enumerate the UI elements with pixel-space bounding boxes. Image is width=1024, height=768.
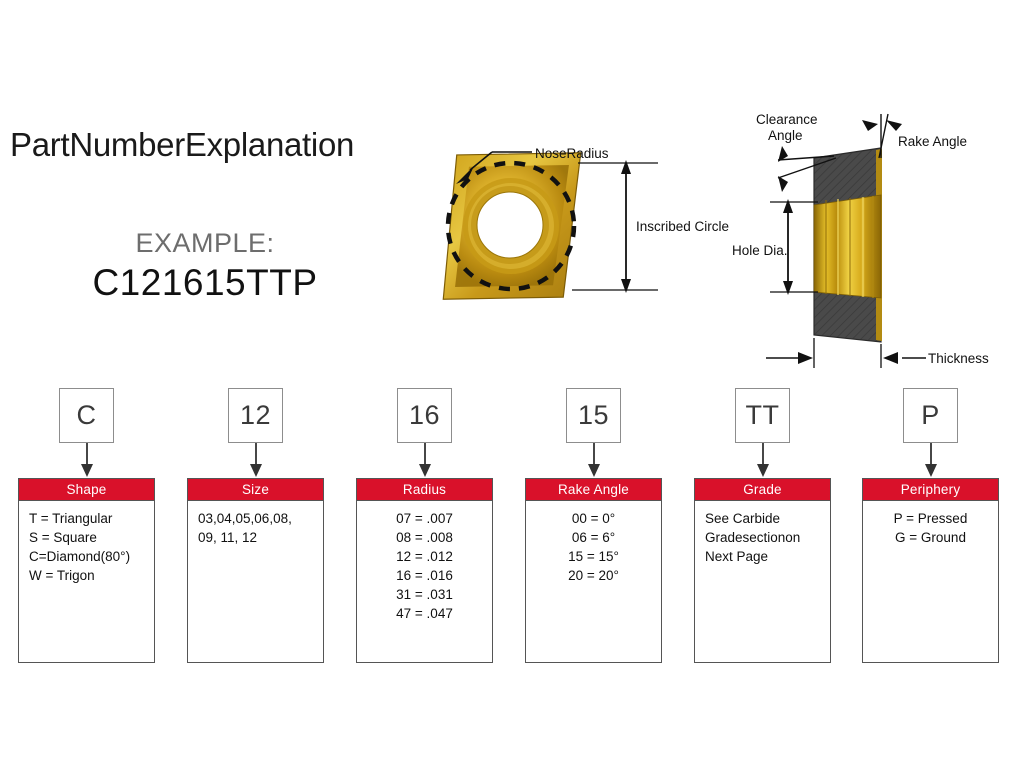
panel-body-size: 03,04,05,06,08, 09, 11, 12 (188, 501, 323, 547)
hole-dia-label: Hole Dia. (732, 243, 788, 258)
panel-header-grade: Grade (695, 479, 830, 501)
panel-line: 16 = .016 (363, 566, 486, 585)
panel-line: 20 = 20° (532, 566, 655, 585)
carbide-insert-cross-section: Clearance Angle Rake Angle Hole Dia. (726, 100, 1024, 380)
code-box-grade: TT (735, 388, 790, 443)
panel-line: S = Square (25, 528, 148, 547)
arrow-down-icon (923, 443, 939, 479)
panel-body-grade: See Carbide Gradesectionon Next Page (695, 501, 830, 566)
thickness-dimension: Thickness (766, 338, 989, 368)
panel-size: Size 03,04,05,06,08, 09, 11, 12 (187, 478, 324, 663)
panel-line: Gradesectionon (701, 528, 824, 547)
panel-header-rake-angle: Rake Angle (526, 479, 661, 501)
panel-line: 00 = 0° (532, 509, 655, 528)
panel-header-periphery: Periphery (863, 479, 998, 501)
arrow-down-icon (586, 443, 602, 479)
panel-radius: Radius 07 = .007 08 = .008 12 = .012 16 … (356, 478, 493, 663)
panel-line: 09, 11, 12 (194, 528, 317, 547)
panel-line: 08 = .008 (363, 528, 486, 547)
panel-periphery: Periphery P = Pressed G = Ground (862, 478, 999, 663)
rake-angle-label: Rake Angle (898, 134, 967, 149)
clearance-angle-label-line1: Clearance (756, 112, 818, 127)
code-box-size: 12 (228, 388, 283, 443)
arrow-down-icon (417, 443, 433, 479)
panel-line: 47 = .047 (363, 604, 486, 623)
page-title: PartNumberExplanation (10, 126, 354, 164)
panel-line: 12 = .012 (363, 547, 486, 566)
panel-line: 03,04,05,06,08, (194, 509, 317, 528)
example-part-number: C121615TTP (55, 262, 355, 304)
insert-body-shape (441, 153, 583, 299)
hole-bore (814, 195, 881, 298)
panel-grade: Grade See Carbide Gradesectionon Next Pa… (694, 478, 831, 663)
panel-line: P = Pressed (869, 509, 992, 528)
inscribed-circle-label: Inscribed Circle (636, 219, 729, 234)
arrow-down-icon (79, 443, 95, 479)
arrow-down-icon (248, 443, 264, 479)
panel-header-shape: Shape (19, 479, 154, 501)
clearance-angle-label-line2: Angle (768, 128, 803, 143)
panel-shape: Shape T = Triangular S = Square C=Diamon… (18, 478, 155, 663)
code-box-shape: C (59, 388, 114, 443)
panel-body-radius: 07 = .007 08 = .008 12 = .012 16 = .016 … (357, 501, 492, 623)
panel-body-rake-angle: 00 = 0° 06 = 6° 15 = 15° 20 = 20° (526, 501, 661, 585)
hole-dia-dimension: Hole Dia. (732, 199, 818, 295)
panel-line: 31 = .031 (363, 585, 486, 604)
carbide-insert-top-view: NoseRadius Inscribed Circle (440, 140, 730, 340)
panel-line: 15 = 15° (532, 547, 655, 566)
panel-line: 07 = .007 (363, 509, 486, 528)
code-box-periphery: P (903, 388, 958, 443)
panel-line: Next Page (701, 547, 824, 566)
panel-rake-angle: Rake Angle 00 = 0° 06 = 6° 15 = 15° 20 =… (525, 478, 662, 663)
code-box-rake-angle: 15 (566, 388, 621, 443)
diagram-canvas: PartNumberExplanation EXAMPLE: C121615TT… (0, 0, 1024, 768)
panel-body-periphery: P = Pressed G = Ground (863, 501, 998, 547)
code-box-radius: 16 (397, 388, 452, 443)
panel-line: G = Ground (869, 528, 992, 547)
panel-header-size: Size (188, 479, 323, 501)
panel-line: See Carbide (701, 509, 824, 528)
panel-line: C=Diamond(80°) (25, 547, 148, 566)
arrow-down-icon (755, 443, 771, 479)
insert-section-body (814, 148, 882, 342)
panel-line: 06 = 6° (532, 528, 655, 547)
panel-line: T = Triangular (25, 509, 148, 528)
thickness-label: Thickness (928, 351, 989, 366)
inscribed-circle-dimension: Inscribed Circle (572, 160, 729, 293)
example-label: EXAMPLE: (60, 228, 350, 259)
panel-body-shape: T = Triangular S = Square C=Diamond(80°)… (19, 501, 154, 585)
panel-header-radius: Radius (357, 479, 492, 501)
panel-line: W = Trigon (25, 566, 148, 585)
nose-radius-label: NoseRadius (535, 146, 609, 161)
